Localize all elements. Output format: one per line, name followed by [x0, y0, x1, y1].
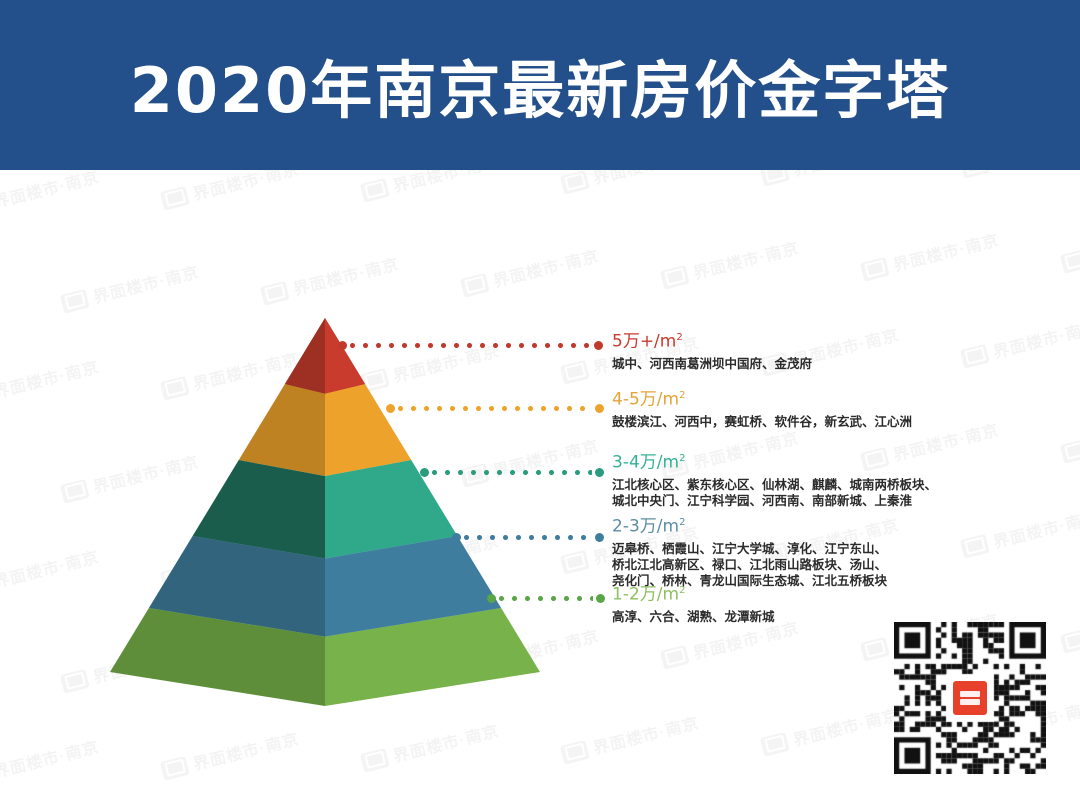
tier-amount-5: 1-2万/m2 — [612, 580, 775, 606]
watermark: 界面楼市·南京 — [559, 709, 701, 766]
watermark-text: 界面楼市·南京 — [0, 543, 101, 592]
leader-dot-start — [386, 404, 395, 413]
watermark: 界面楼市·南京 — [1059, 408, 1080, 465]
leader-dot-end — [595, 533, 604, 542]
watermark-logo-icon — [360, 177, 390, 202]
watermark-logo-icon — [660, 264, 690, 289]
price-pyramid — [90, 300, 560, 710]
leader-dotted-path — [350, 343, 591, 348]
leader-dot-start — [420, 468, 429, 477]
watermark-logo-icon — [60, 288, 90, 313]
watermark: 界面楼市·南京 — [459, 242, 601, 299]
leader-dot-start — [487, 594, 496, 603]
tier-amount-text: 3-4万/m — [612, 453, 679, 473]
pyramid-tier-1-left-face — [285, 318, 325, 394]
watermark: 界面楼市·南京 — [0, 353, 101, 410]
watermark-logo-icon — [1060, 248, 1080, 273]
watermark-logo-icon — [660, 644, 690, 669]
watermark-logo-icon — [60, 668, 90, 693]
pyramid-tier-2-right-face — [325, 384, 411, 476]
qr-code[interactable] — [894, 622, 1046, 774]
tier-amount-exponent: 2 — [679, 390, 685, 401]
watermark: 界面楼市·南京 — [359, 717, 501, 774]
leader-dot-end — [595, 468, 604, 477]
tier-amount-exponent: 2 — [679, 453, 685, 464]
leader-dotted-path — [499, 596, 593, 601]
watermark: 界面楼市·南京 — [759, 701, 901, 758]
qr-logo-bar-bottom — [960, 699, 980, 705]
leader-dot-start — [338, 341, 347, 350]
leader-line-tier-2 — [386, 404, 604, 413]
tier-amount-1: 5万+/m2 — [612, 327, 812, 353]
tier-block-3: 3-4万/m2江北核心区、紫东核心区、仙林湖、麒麟、城南两桥板块、 城北中央门、… — [612, 448, 937, 509]
tier-amount-text: 4-5万/m — [612, 390, 679, 410]
tier-block-4: 2-3万/m2迈皋桥、栖霞山、江宁大学城、淳化、江宁东山、 桥北江北高新区、禄口… — [612, 512, 887, 589]
tier-amount-exponent: 2 — [679, 585, 685, 596]
watermark-logo-icon — [860, 256, 890, 281]
tier-amount-2: 4-5万/m2 — [612, 385, 912, 411]
watermark-text: 界面楼市·南京 — [390, 717, 501, 766]
watermark-logo-icon — [560, 549, 590, 574]
watermark: 界面楼市·南京 — [0, 163, 101, 220]
leader-line-tier-5 — [487, 594, 605, 603]
watermark: 界面楼市·南京 — [659, 234, 801, 291]
watermark-text: 界面楼市·南京 — [690, 234, 801, 283]
watermark-logo-icon — [160, 755, 190, 780]
tier-places-3: 江北核心区、紫东核心区、仙林湖、麒麟、城南两桥板块、 城北中央门、江宁科学园、河… — [612, 477, 937, 509]
watermark: 界面楼市·南京 — [959, 503, 1080, 560]
leader-dot-end — [596, 594, 605, 603]
watermark-logo-icon — [760, 731, 790, 756]
pyramid-tier-1-right-face — [325, 318, 365, 394]
watermark-text: 界面楼市·南京 — [0, 733, 101, 782]
watermark: 界面楼市·南京 — [859, 226, 1001, 283]
watermark-logo-icon — [460, 272, 490, 297]
leader-dot-end — [594, 341, 603, 350]
tier-places-1: 城中、河西南葛洲坝中国府、金茂府 — [612, 356, 812, 372]
tier-amount-4: 2-3万/m2 — [612, 512, 887, 538]
watermark: 界面楼市·南京 — [159, 725, 301, 782]
watermark-logo-icon — [860, 636, 890, 661]
watermark-logo-icon — [60, 478, 90, 503]
tier-block-5: 1-2万/m2高淳、六合、湖熟、龙潭新城 — [612, 580, 775, 625]
qr-logo-bar-top — [960, 691, 980, 697]
watermark-text: 界面楼市·南京 — [590, 709, 701, 758]
leader-dotted-path — [398, 406, 592, 411]
tier-places-2: 鼓楼滨江、河西中，赛虹桥、软件谷，新玄武、江心洲 — [612, 414, 912, 430]
tier-amount-text: 1-2万/m — [612, 585, 679, 605]
watermark-text: 界面楼市·南京 — [790, 701, 901, 750]
watermark: 界面楼市·南京 — [959, 313, 1080, 370]
watermark-logo-icon — [360, 747, 390, 772]
leader-line-tier-3 — [420, 468, 604, 477]
leader-dotted-path — [464, 535, 592, 540]
watermark-logo-icon — [1060, 438, 1080, 463]
tier-amount-exponent: 2 — [679, 517, 685, 528]
watermark-logo-icon — [960, 343, 990, 368]
watermark-text: 界面楼市·南京 — [190, 725, 301, 774]
leader-dotted-path — [432, 470, 592, 475]
watermark: 界面楼市·南京 — [0, 543, 101, 600]
tier-block-1: 5万+/m2城中、河西南葛洲坝中国府、金茂府 — [612, 327, 812, 372]
watermark-text: 界面楼市·南京 — [0, 353, 101, 402]
watermark-text: 界面楼市·南京 — [990, 313, 1080, 362]
infographic-canvas: 界面楼市·南京界面楼市·南京界面楼市·南京界面楼市·南京界面楼市·南京界面楼市·… — [0, 0, 1080, 796]
watermark-text: 界面楼市·南京 — [990, 503, 1080, 552]
watermark-logo-icon — [1060, 628, 1080, 653]
pyramid-svg — [90, 300, 560, 710]
tier-amount-3: 3-4万/m2 — [612, 448, 937, 474]
tier-amount-text: 5万+/m — [612, 332, 676, 352]
tier-amount-text: 2-3万/m — [612, 517, 679, 537]
page-title: 2020年南京最新房价金字塔 — [0, 0, 1080, 170]
header-banner: 2020年南京最新房价金字塔 — [0, 0, 1080, 170]
watermark: 界面楼市·南京 — [0, 733, 101, 790]
tier-places-5: 高淳、六合、湖熟、龙潭新城 — [612, 609, 775, 625]
watermark-text: 界面楼市·南京 — [0, 163, 101, 212]
leader-dot-start — [452, 533, 461, 542]
watermark: 界面楼市·南京 — [1059, 218, 1080, 275]
watermark-logo-icon — [560, 359, 590, 384]
watermark: 界面楼市·南京 — [1059, 598, 1080, 655]
qr-logo-icon — [950, 678, 990, 718]
watermark-text: 界面楼市·南京 — [490, 242, 601, 291]
watermark-text: 界面楼市·南京 — [290, 250, 401, 299]
watermark-logo-icon — [560, 169, 590, 194]
leader-line-tier-1 — [338, 341, 603, 350]
tier-block-2: 4-5万/m2鼓楼滨江、河西中，赛虹桥、软件谷，新玄武、江心洲 — [612, 385, 912, 430]
tier-amount-exponent: 2 — [676, 332, 682, 343]
watermark-logo-icon — [960, 533, 990, 558]
watermark-text: 界面楼市·南京 — [890, 226, 1001, 275]
watermark-logo-icon — [160, 185, 190, 210]
leader-line-tier-4 — [452, 533, 604, 542]
watermark-logo-icon — [560, 739, 590, 764]
leader-dot-end — [595, 404, 604, 413]
pyramid-tier-2-left-face — [239, 384, 325, 476]
